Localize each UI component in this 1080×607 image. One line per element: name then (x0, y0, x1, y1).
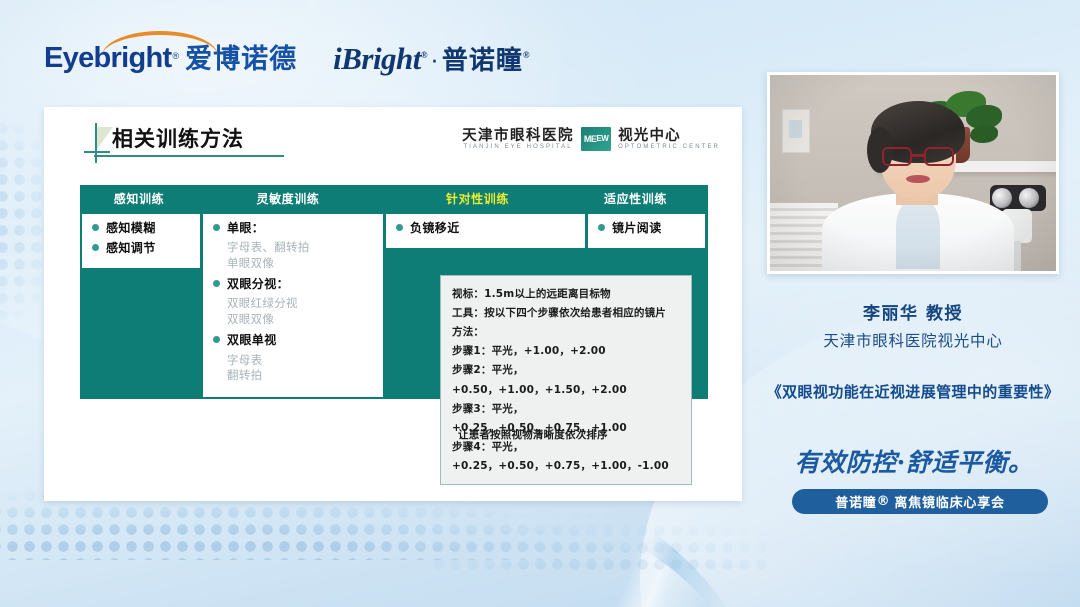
bullet-dot-icon (92, 224, 99, 231)
event-badge-registered-icon: ® (877, 494, 891, 509)
procedure-note: 让患者按照视物清晰度依次排序 (458, 427, 608, 442)
list-item-label: 镜片阅读 (612, 220, 662, 236)
subline-text: 翻转拍 (227, 368, 375, 384)
ibright-wordmark: iBright (333, 43, 421, 74)
subline-text: 双眼红绿分视 (227, 296, 375, 312)
speaker-organization: 天津市眼科医院视光中心 (767, 329, 1059, 351)
event-badge-text: 离焦镜临床心享会 (894, 492, 1004, 511)
mark-top-letters: ME (584, 135, 597, 144)
bullet-dot-icon (396, 224, 403, 231)
hospital-name-cn: 天津市眼科医院 (462, 128, 574, 145)
bullet-dot-icon (213, 280, 220, 287)
event-name-badge: 普诺瞳®离焦镜临床心享会 (792, 489, 1048, 514)
event-badge-brand: 普诺瞳 (835, 492, 876, 511)
list-item-label: 双眼分视： (227, 276, 289, 292)
bullet-dot-icon (92, 244, 99, 251)
subline-text: 双眼双像 (227, 312, 375, 328)
procedure-line-tools: 工具：按以下四个步骤依次给患者相应的镜片 (452, 304, 680, 323)
speaker-name: 李丽华 教授 (767, 299, 1059, 324)
procedure-line-method: 方法： (452, 323, 680, 342)
table-cell-targeted: 负镜移近 (386, 214, 585, 248)
list-item-label: 感知调节 (106, 240, 156, 256)
mark-bottom-letters: EW (596, 135, 608, 143)
bullet-dot-icon (213, 336, 220, 343)
eyebright-registered-icon: ® (172, 51, 179, 61)
list-item: 双眼单视 (211, 332, 375, 348)
title-crossmark-icon (84, 123, 110, 163)
speaker-photo (767, 72, 1059, 274)
procedure-line-step-1: 步骤1：平光，+1.00，+2.00 (452, 342, 680, 361)
slide-card: 相关训练方法 天津市眼科医院 TIANJIN EYE HOSPITAL ME E… (44, 107, 742, 501)
hospital-logo: 天津市眼科医院 TIANJIN EYE HOSPITAL ME EW 视光中心 … (462, 127, 720, 151)
event-slogan-dot: · (897, 448, 906, 477)
table-header-targeted: 针对性训练 (378, 190, 577, 207)
procedure-line-step-4: 步骤4：平光，+0.25，+0.50，+0.75，+1.00，-1.00 (452, 438, 680, 476)
photo-vignette (770, 75, 1056, 271)
bullet-dot-icon (213, 224, 220, 231)
list-item-label: 单眼： (227, 220, 264, 236)
ibright-chinese-name: 普诺瞳 (442, 48, 523, 74)
optometric-center-cn: 视光中心 (618, 128, 720, 145)
list-item-label: 感知模糊 (106, 220, 156, 236)
list-item-label: 负镜移近 (410, 220, 460, 236)
procedure-detail-box: 视标：1.5m以上的远距离目标物 工具：按以下四个步骤依次给患者相应的镜片 方法… (440, 275, 692, 485)
table-header-perception: 感知训练 (80, 190, 198, 207)
page-title: 相关训练方法 (112, 123, 244, 156)
hospital-name-en: TIANJIN EYE HOSPITAL (462, 144, 574, 150)
speaker-topic: 《双眼视功能在近视进展管理中的重要性》 (757, 381, 1069, 402)
slide-title-block: 相关训练方法 (84, 123, 244, 163)
subline-group: 字母表 翻转拍 (227, 353, 375, 384)
subline-text: 单眼双像 (227, 256, 375, 272)
table-header-sensitivity: 灵敏度训练 (198, 190, 378, 207)
brand-logo-row: Eyebright ® 爱博诺德 iBright ® · 普诺瞳 ® (44, 32, 529, 84)
optometric-center-name-block: 视光中心 OPTOMETRIC CENTER (618, 128, 720, 151)
subline-group: 字母表、翻转拍 单眼双像 (227, 240, 375, 271)
event-slogan: 有效防控·舒适平衡。 (764, 443, 1064, 479)
list-item: 负镜移近 (394, 220, 577, 236)
hexagon-pattern-bottom-center (430, 505, 770, 575)
list-item: 感知模糊 (90, 220, 192, 236)
ibright-registered-icon: ® (421, 51, 427, 60)
table-cell-perception: 感知模糊 感知调节 (82, 214, 200, 268)
title-underline (94, 155, 284, 157)
eyebright-arc-icon (102, 31, 218, 57)
table-cell-sensitivity: 单眼： 字母表、翻转拍 单眼双像 双眼分视： 双眼红绿分视 双眼双像 (203, 214, 383, 397)
presentation-stage: Eyebright ® 爱博诺德 iBright ® · 普诺瞳 ® 相关训练方… (0, 0, 1080, 607)
subline-text: 字母表 (227, 353, 375, 369)
event-slogan-period: 。 (1008, 448, 1034, 477)
table-header-adaptive: 适应性训练 (577, 190, 694, 207)
list-item: 镜片阅读 (596, 220, 697, 236)
list-item: 单眼： (211, 220, 375, 236)
ibright-separator-dot: · (430, 46, 439, 72)
subline-group: 双眼红绿分视 双眼双像 (227, 296, 375, 327)
list-item-label: 双眼单视 (227, 332, 277, 348)
bullet-dot-icon (598, 224, 605, 231)
list-item: 双眼分视： (211, 276, 375, 292)
event-slogan-part-a: 有效防控 (795, 448, 897, 477)
optometric-center-en: OPTOMETRIC CENTER (618, 144, 720, 150)
ibright-logo: iBright ® · 普诺瞳 ® (333, 43, 529, 74)
hospital-name-block: 天津市眼科医院 TIANJIN EYE HOSPITAL (462, 128, 574, 151)
ibright-chinese-registered-icon: ® (523, 51, 529, 60)
table-header-row: 感知训练 灵敏度训练 针对性训练 适应性训练 (80, 185, 708, 212)
subline-text: 字母表、翻转拍 (227, 240, 375, 256)
table-cell-adaptive: 镜片阅读 (588, 214, 705, 248)
list-item: 感知调节 (90, 240, 192, 256)
event-slogan-part-b: 舒适平衡 (906, 448, 1008, 477)
procedure-line-target: 视标：1.5m以上的远距离目标物 (452, 285, 680, 304)
optometric-center-mark-icon: ME EW (581, 127, 611, 151)
eyebright-logo: Eyebright ® 爱博诺德 (44, 44, 297, 73)
procedure-line-step-2: 步骤2：平光，+0.50，+1.00，+1.50，+2.00 (452, 361, 680, 399)
